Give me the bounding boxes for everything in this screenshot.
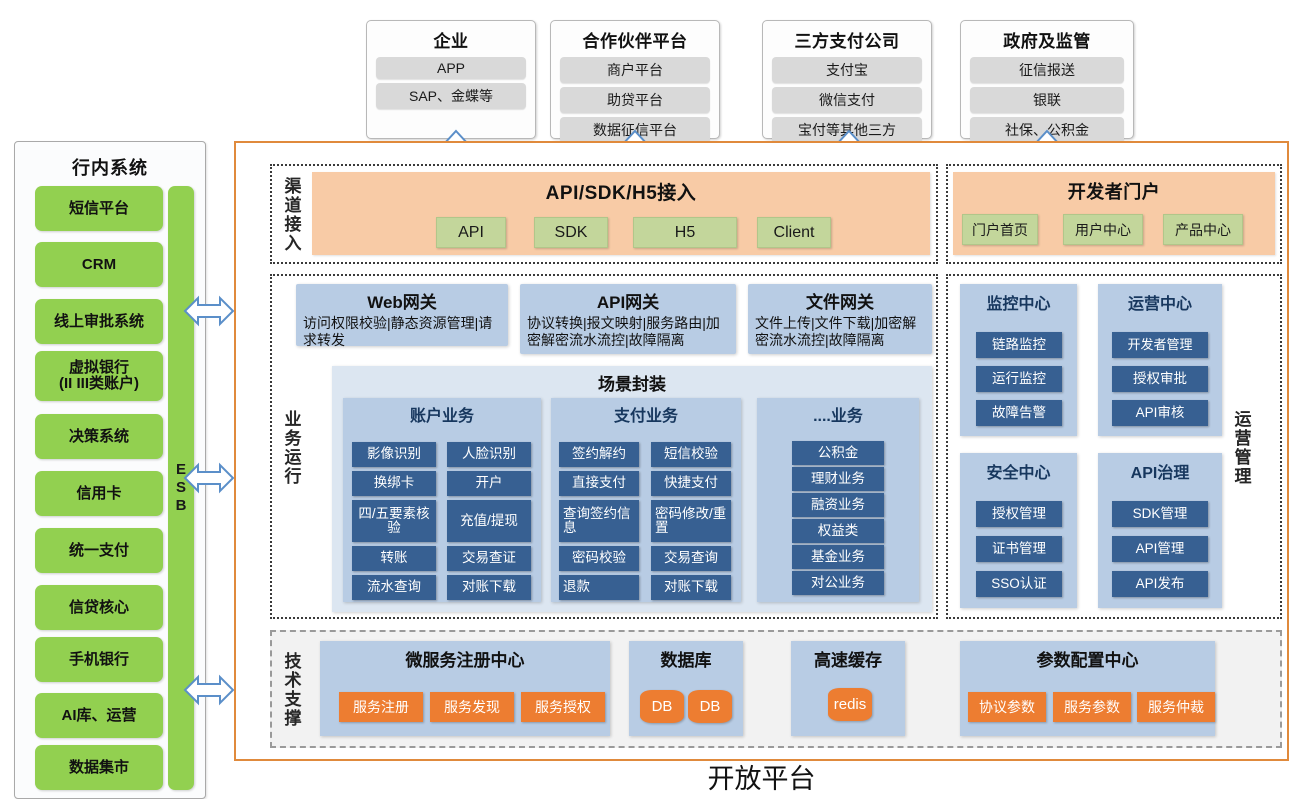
internal-system-label: 短信平台 [69,201,129,217]
tech-chip[interactable]: 服务授权 [521,692,605,722]
internal-system-item[interactable]: 决策系统 [35,414,163,459]
tech-chip[interactable]: 服务参数 [1053,692,1131,722]
scene-chip[interactable]: 对账下载 [447,575,531,600]
ops-card-title: 安全中心 [960,453,1077,483]
external-party-government-regulator[interactable]: 政府及监管 征信报送 银联 社保、公积金 [960,20,1134,139]
ops-chip[interactable]: 授权审批 [1112,366,1208,392]
ops-chip[interactable]: API发布 [1112,571,1208,597]
tech-card-title: 高速缓存 [791,641,905,671]
portal-chip-user-center[interactable]: 用户中心 [1063,214,1143,245]
ops-chip[interactable]: 授权管理 [976,501,1062,527]
internal-system-item[interactable]: 手机银行 [35,637,163,682]
external-party-title: 三方支付公司 [772,27,922,52]
external-party-title: 企业 [376,27,526,52]
api-sdk-h5-title: API/SDK/H5接入 [312,172,930,205]
external-party-item[interactable]: 微信支付 [772,87,922,113]
channel-chip-sdk[interactable]: SDK [534,217,608,248]
channel-chip-client[interactable]: Client [757,217,831,248]
internal-system-label: 线上审批系统 [54,314,144,330]
api-sdk-h5-band: API/SDK/H5接入 [312,172,930,255]
ops-chip[interactable]: SSO认证 [976,571,1062,597]
tech-support-side-label: 技术支撑 [278,642,304,738]
gateway-title: Web网关 [303,288,501,313]
portal-chip-home[interactable]: 门户首页 [962,214,1038,245]
tech-card-title: 微服务注册中心 [320,641,610,671]
scene-chip[interactable]: 理财业务 [792,467,884,491]
scene-chip[interactable]: 开户 [447,471,531,496]
internal-system-label: 决策系统 [69,429,129,445]
gateway-desc: 文件上传|文件下载|加密解密流水流控|故障隔离 [755,315,925,348]
scene-chip[interactable]: 人脸识别 [447,442,531,467]
scene-group-title: ....业务 [757,398,919,426]
ops-card-title: 监控中心 [960,284,1077,314]
ops-chip[interactable]: 开发者管理 [1112,332,1208,358]
internal-system-item[interactable]: 虚拟银行(II III类账户) [35,351,163,401]
external-party-item[interactable]: 支付宝 [772,57,922,83]
scene-chip[interactable]: 查询签约信息 [559,500,639,542]
scene-chip[interactable]: 对账下载 [651,575,731,600]
internal-system-item[interactable]: 线上审批系统 [35,299,163,344]
database-cylinder-icon[interactable]: DB [688,690,732,723]
scene-chip[interactable]: 密码校验 [559,546,639,571]
internal-system-item[interactable]: 信用卡 [35,471,163,516]
internal-system-item[interactable]: AI库、运营 [35,693,163,738]
scene-chip[interactable]: 换绑卡 [352,471,436,496]
connector-arrow-esb-channel [184,295,234,327]
open-platform-title: 开放平台 [234,757,1289,796]
external-party-third-party-payment[interactable]: 三方支付公司 支付宝 微信支付 宝付等其他三方 [762,20,932,139]
ops-card-title: API治理 [1098,453,1222,483]
external-party-title: 政府及监管 [970,27,1124,52]
scene-chip[interactable]: 交易查询 [651,546,731,571]
ops-chip[interactable]: API审核 [1112,400,1208,426]
ops-chip[interactable]: SDK管理 [1112,501,1208,527]
scene-chip[interactable]: 快捷支付 [651,471,731,496]
scene-chip[interactable]: 短信校验 [651,442,731,467]
internal-system-label: CRM [82,257,116,273]
scene-chip[interactable]: 流水查询 [352,575,436,600]
scene-chip[interactable]: 密码修改/重置 [651,500,731,542]
internal-systems-title: 行内系统 [15,154,205,180]
gateway-card-api[interactable]: API网关 协议转换|报文映射|服务路由|加密解密流水流控|故障隔离 [520,284,736,354]
scene-chip[interactable]: 权益类 [792,519,884,543]
channel-chip-api[interactable]: API [436,217,506,248]
gateway-title: 文件网关 [755,288,925,313]
gateway-desc: 协议转换|报文映射|服务路由|加密解密流水流控|故障隔离 [527,315,729,348]
tech-card-title: 数据库 [629,641,743,671]
external-party-enterprise[interactable]: 企业 APP SAP、金蝶等 [366,20,536,139]
tech-chip[interactable]: 服务仲裁 [1137,692,1215,722]
scene-chip[interactable]: 四/五要素核验 [352,500,436,542]
internal-system-label: 手机银行 [69,652,129,668]
scene-chip[interactable]: 融资业务 [792,493,884,517]
scene-chip[interactable]: 对公业务 [792,571,884,595]
internal-system-item[interactable]: 统一支付 [35,528,163,573]
ops-card-title: 运营中心 [1098,284,1222,314]
tech-chip[interactable]: 协议参数 [968,692,1046,722]
internal-system-label: 信贷核心 [69,600,129,616]
tech-chip[interactable]: 服务注册 [339,692,423,722]
external-party-item[interactable]: 银联 [970,87,1124,113]
gateway-desc: 访问权限校验|静态资源管理|请求转发 [303,315,501,348]
ops-chip[interactable]: 运行监控 [976,366,1062,392]
ops-chip[interactable]: 证书管理 [976,536,1062,562]
ops-chip[interactable]: 链路监控 [976,332,1062,358]
external-party-item[interactable]: APP [376,57,526,79]
gateway-card-file[interactable]: 文件网关 文件上传|文件下载|加密解密流水流控|故障隔离 [748,284,932,354]
scene-chip[interactable]: 退款 [559,575,639,600]
scene-group-title: 账户业务 [343,398,541,426]
architecture-diagram: 企业 APP SAP、金蝶等 合作伙伴平台 商户平台 助贷平台 数据征信平台 三… [0,0,1299,799]
business-run-side-label: 业务运行 [278,385,304,511]
internal-system-label: 数据集市 [69,760,129,776]
portal-chip-product-center[interactable]: 产品中心 [1163,214,1243,245]
channel-chip-h5[interactable]: H5 [633,217,737,248]
external-party-partner-platform[interactable]: 合作伙伴平台 商户平台 助贷平台 数据征信平台 [550,20,720,139]
internal-system-item[interactable]: 信贷核心 [35,585,163,630]
scene-chip[interactable]: 充值/提现 [447,500,531,542]
external-party-item[interactable]: 助贷平台 [560,87,710,113]
internal-system-item[interactable]: 短信平台 [35,186,163,231]
channel-access-side-label: 渠道接入 [278,170,304,260]
scene-group-title: 支付业务 [551,398,741,426]
scene-chip[interactable]: 交易查证 [447,546,531,571]
ops-management-side-label: 运营管理 [1228,383,1254,513]
scene-chip[interactable]: 影像识别 [352,442,436,467]
redis-cylinder-icon[interactable]: redis [828,688,872,721]
scene-chip[interactable]: 签约解约 [559,442,639,467]
internal-system-item[interactable]: 数据集市 [35,745,163,790]
external-party-item[interactable]: 征信报送 [970,57,1124,83]
gateway-card-web[interactable]: Web网关 访问权限校验|静态资源管理|请求转发 [296,284,508,346]
internal-system-label: 统一支付 [69,543,129,559]
scene-chip[interactable]: 转账 [352,546,436,571]
developer-portal-title: 开发者门户 [953,172,1275,204]
ops-chip[interactable]: API管理 [1112,536,1208,562]
scene-encapsulation-title: 场景封装 [332,366,932,395]
internal-system-label: 虚拟银行(II III类账户) [59,360,139,392]
connector-arrow-esb-tech [184,674,234,706]
internal-systems-panel: 行内系统 短信平台 CRM 线上审批系统 虚拟银行(II III类账户) 决策系… [14,141,206,799]
gateway-title: API网关 [527,288,729,313]
scene-chip[interactable]: 公积金 [792,441,884,465]
scene-chip[interactable]: 直接支付 [559,471,639,496]
external-party-item[interactable]: SAP、金蝶等 [376,83,526,109]
internal-system-label: AI库、运营 [61,708,136,724]
ops-chip[interactable]: 故障告警 [976,400,1062,426]
external-party-item[interactable]: 商户平台 [560,57,710,83]
internal-system-label: 信用卡 [76,486,121,502]
external-party-title: 合作伙伴平台 [560,27,710,52]
database-cylinder-icon[interactable]: DB [640,690,684,723]
tech-card-title: 参数配置中心 [960,641,1215,671]
internal-system-item[interactable]: CRM [35,242,163,287]
tech-chip[interactable]: 服务发现 [430,692,514,722]
connector-arrow-esb-business [184,462,234,494]
scene-chip[interactable]: 基金业务 [792,545,884,569]
